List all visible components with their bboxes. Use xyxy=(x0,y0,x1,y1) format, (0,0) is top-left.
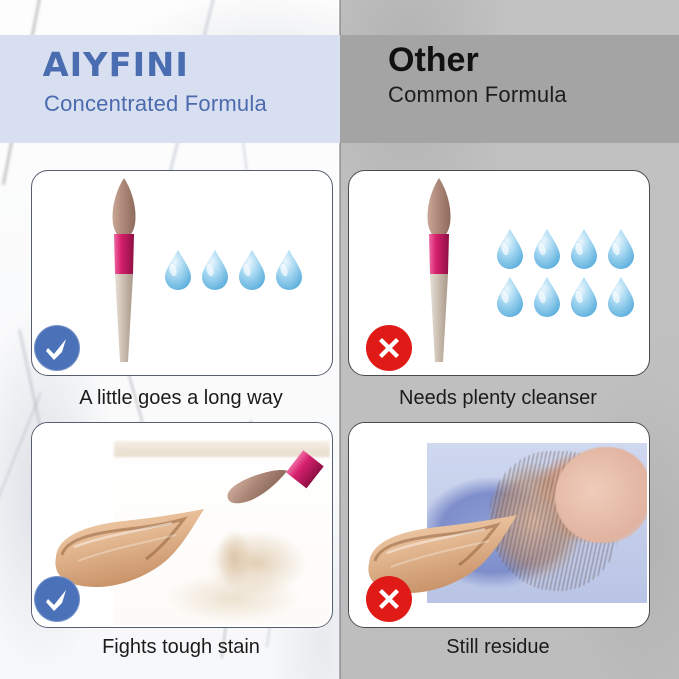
caption-top-left: A little goes a long way xyxy=(31,383,331,413)
water-droplet-icon xyxy=(568,227,600,269)
right-subtitle: Common Formula xyxy=(388,82,679,108)
cross-badge-bottom-right xyxy=(366,576,412,622)
header-left: AIYFINI Concentrated Formula xyxy=(0,35,340,143)
water-droplet-icon xyxy=(236,248,268,290)
water-droplet-icon xyxy=(531,275,563,317)
cross-icon xyxy=(375,334,403,362)
water-droplet-icon xyxy=(605,275,637,317)
caption-bottom-right: Still residue xyxy=(348,632,648,662)
check-icon xyxy=(43,585,71,613)
other-title: Other xyxy=(388,43,679,79)
water-droplet-icon xyxy=(162,248,194,290)
makeup-brush-icon xyxy=(418,176,460,366)
water-droplet-icon xyxy=(605,227,637,269)
cross-badge-top-right xyxy=(366,325,412,371)
header-right: Other Common Formula xyxy=(340,35,679,143)
water-droplet-icon xyxy=(531,227,563,269)
brand-name: AIYFINI xyxy=(43,45,189,84)
water-droplet-icon xyxy=(568,275,600,317)
header-band: AIYFINI Concentrated Formula Other Commo… xyxy=(0,35,679,143)
water-droplet-icon xyxy=(494,227,526,269)
check-badge-bottom-left xyxy=(34,576,80,622)
cross-icon xyxy=(375,585,403,613)
comparison-infographic: AIYFINI Concentrated Formula Other Commo… xyxy=(0,0,679,679)
caption-top-right: Needs plenty cleanser xyxy=(348,383,648,413)
water-droplet-icon xyxy=(199,248,231,290)
makeup-brush-icon xyxy=(103,176,145,366)
water-droplet-icon xyxy=(273,248,305,290)
caption-bottom-left: Fights tough stain xyxy=(31,632,331,662)
droplet-group-left xyxy=(162,248,307,290)
check-icon xyxy=(43,334,71,362)
water-droplet-icon xyxy=(494,275,526,317)
hand xyxy=(555,447,647,543)
droplet-group-right xyxy=(494,227,639,317)
brand-logo: AIYFINI xyxy=(44,41,340,87)
check-badge-top-left xyxy=(34,325,80,371)
left-subtitle: Concentrated Formula xyxy=(44,91,340,117)
